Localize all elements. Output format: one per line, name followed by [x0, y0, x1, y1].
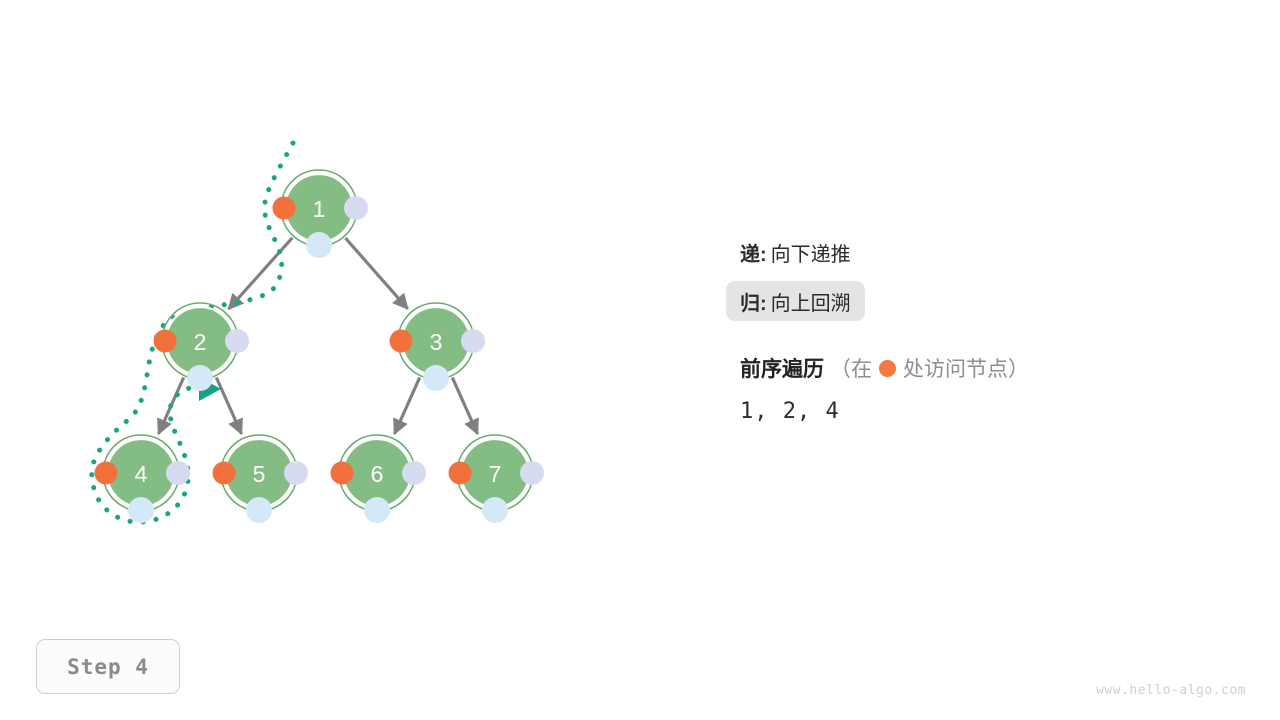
watermark: www.hello-algo.com — [1096, 683, 1246, 698]
traversal-note-after: 处访问节点） — [903, 353, 1029, 383]
node-bottom-dot-icon — [364, 497, 390, 523]
node-visit-dot-icon — [449, 462, 472, 485]
step-badge: Step 4 — [36, 639, 180, 694]
tree-node-2: 2 — [154, 303, 250, 391]
tree-edge — [216, 378, 241, 434]
legend-backtrack-body: 向上回溯 — [771, 287, 851, 316]
node-visit-dot-icon — [95, 462, 118, 485]
node-label: 3 — [430, 329, 443, 355]
node-label: 1 — [313, 196, 326, 222]
legend-descend-lead: 递: — [740, 238, 767, 267]
node-visit-dot-icon — [273, 197, 296, 220]
traversal-header: 前序遍历 （在 处访问节点） — [726, 353, 1246, 383]
node-label: 2 — [194, 329, 207, 355]
legend-backtrack-lead: 归: — [740, 287, 767, 316]
diagram-stage: 1234567 递: 向下递推 归: 向上回溯 前序遍历 （在 处访问节点） 1… — [0, 0, 1280, 720]
traversal-sequence: 1, 2, 4 — [726, 399, 1246, 424]
legend-row-backtrack: 归: 向上回溯 — [726, 281, 865, 321]
node-right-dot-icon — [520, 461, 544, 485]
node-bottom-dot-icon — [306, 232, 332, 258]
node-label: 6 — [371, 461, 384, 487]
node-right-dot-icon — [225, 329, 249, 353]
visit-marker-icon — [879, 360, 896, 377]
node-label: 5 — [253, 461, 266, 487]
traversal-note-before: （在 — [830, 353, 872, 383]
tree-nodes: 1234567 — [95, 170, 545, 523]
node-visit-dot-icon — [154, 330, 177, 353]
node-bottom-dot-icon — [128, 497, 154, 523]
tree-node-6: 6 — [331, 435, 427, 523]
tree-edge — [395, 378, 420, 434]
node-right-dot-icon — [461, 329, 485, 353]
tree-node-7: 7 — [449, 435, 545, 523]
node-bottom-dot-icon — [187, 365, 213, 391]
legend-descend-body: 向下递推 — [771, 238, 851, 267]
tree-node-3: 3 — [390, 303, 486, 391]
traversal-title: 前序遍历 — [740, 353, 824, 383]
tree-edge — [452, 378, 477, 434]
node-label: 7 — [489, 461, 502, 487]
node-label: 4 — [135, 461, 148, 487]
tree-edge — [345, 238, 407, 309]
node-visit-dot-icon — [213, 462, 236, 485]
legend-panel: 递: 向下递推 归: 向上回溯 前序遍历 （在 处访问节点） 1, 2, 4 — [726, 232, 1246, 424]
node-bottom-dot-icon — [482, 497, 508, 523]
tree-edge — [229, 238, 293, 309]
node-visit-dot-icon — [390, 330, 413, 353]
node-bottom-dot-icon — [423, 365, 449, 391]
node-bottom-dot-icon — [246, 497, 272, 523]
node-right-dot-icon — [402, 461, 426, 485]
legend-row-descend: 递: 向下递推 — [726, 232, 1246, 272]
traversal-note: （在 处访问节点） — [830, 353, 1029, 383]
node-right-dot-icon — [344, 196, 368, 220]
node-visit-dot-icon — [331, 462, 354, 485]
node-right-dot-icon — [284, 461, 308, 485]
node-right-dot-icon — [166, 461, 190, 485]
tree-node-5: 5 — [213, 435, 309, 523]
